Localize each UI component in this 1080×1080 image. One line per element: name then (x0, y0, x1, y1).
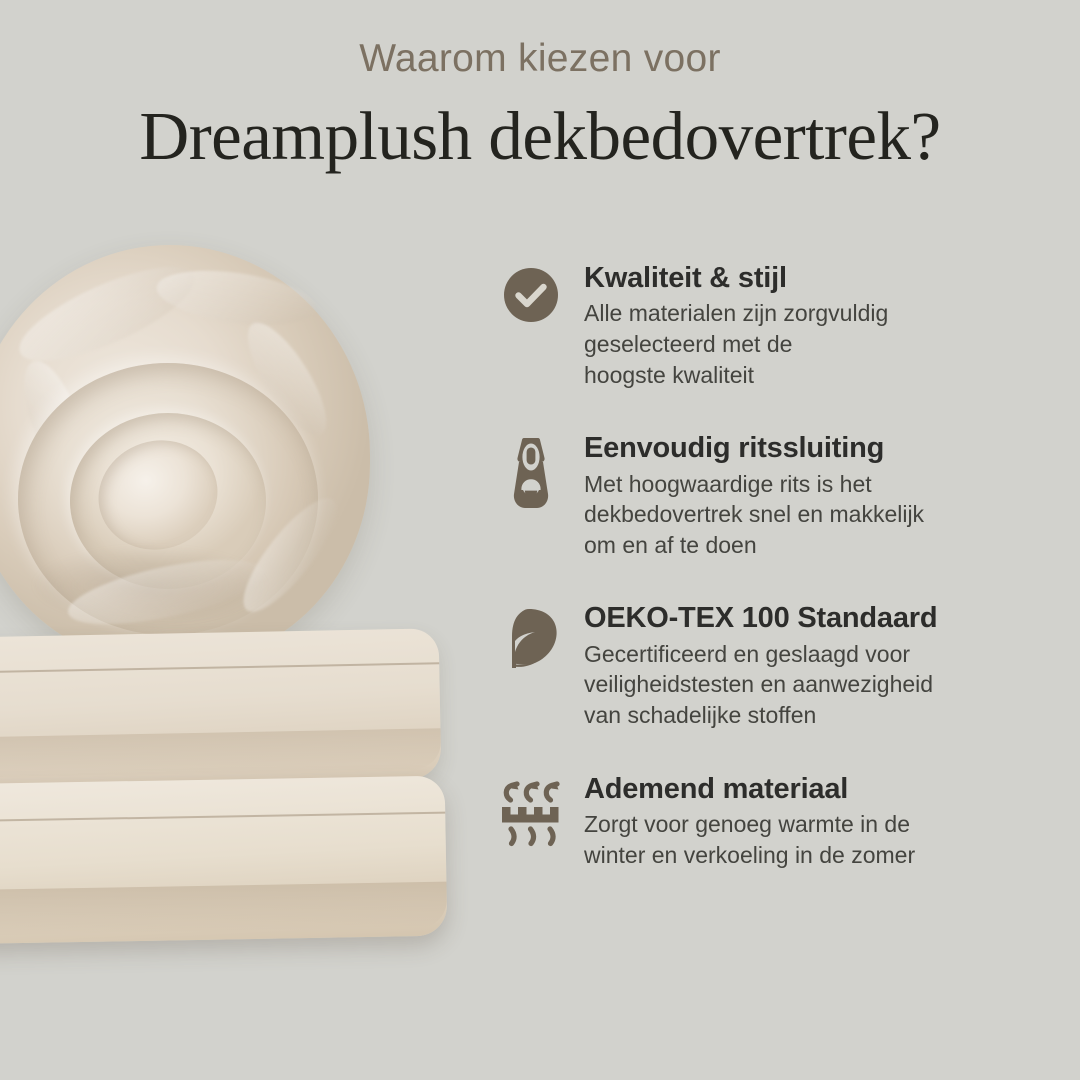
feature-title: OEKO-TEX 100 Standaard (584, 602, 1060, 634)
feature-item-quality: Kwaliteit & stijl Alle materialen zijn z… (500, 262, 1060, 390)
feature-item-oekotex: OEKO-TEX 100 Standaard Gecertificeerd en… (500, 602, 1060, 730)
feature-title: Eenvoudig ritssluiting (584, 432, 1060, 464)
eyebrow-text: Waarom kiezen voor (0, 38, 1080, 81)
feature-description: Met hoogwaardige rits is het dekbedovert… (584, 469, 1060, 561)
feature-description: Zorgt voor genoeg warmte in de winter en… (584, 809, 1060, 870)
header: Waarom kiezen voor Dreamplush dekbedover… (0, 0, 1080, 176)
feature-description: Alle materialen zijn zorgvuldig geselect… (584, 298, 1060, 390)
pillow-seam (0, 662, 439, 673)
feature-text: Eenvoudig ritssluiting Met hoogwaardige … (584, 432, 1060, 560)
feature-item-breathable: Ademend materiaal Zorgt voor genoeg warm… (500, 773, 1060, 871)
feature-description: Gecertificeerd en geslaagd voor veilighe… (584, 639, 1060, 731)
pillow-flange (0, 728, 441, 777)
duvet-fold (8, 249, 205, 379)
feature-text: Kwaliteit & stijl Alle materialen zijn z… (584, 262, 1060, 390)
duvet-fold (153, 262, 318, 334)
pillow-seam (0, 812, 445, 823)
feature-title: Ademend materiaal (584, 773, 1060, 805)
pillow-top (0, 628, 441, 787)
pillow-bottom (0, 776, 447, 945)
check-circle-icon (500, 262, 562, 340)
product-image (0, 235, 480, 1080)
feature-text: OEKO-TEX 100 Standaard Gecertificeerd en… (584, 602, 1060, 730)
rolled-duvet (0, 245, 370, 665)
feature-item-zipper: Eenvoudig ritssluiting Met hoogwaardige … (500, 432, 1060, 560)
feature-text: Ademend materiaal Zorgt voor genoeg warm… (584, 773, 1060, 871)
infographic-canvas: Waarom kiezen voor Dreamplush dekbedover… (0, 0, 1080, 1080)
feature-title: Kwaliteit & stijl (584, 262, 1060, 294)
leaf-icon (500, 602, 562, 680)
page-title: Dreamplush dekbedovertrek? (0, 97, 1080, 176)
feature-list: Kwaliteit & stijl Alle materialen zijn z… (500, 262, 1060, 912)
zipper-icon (500, 432, 562, 510)
pillow-flange (0, 882, 447, 937)
breathable-fabric-icon (500, 773, 562, 851)
